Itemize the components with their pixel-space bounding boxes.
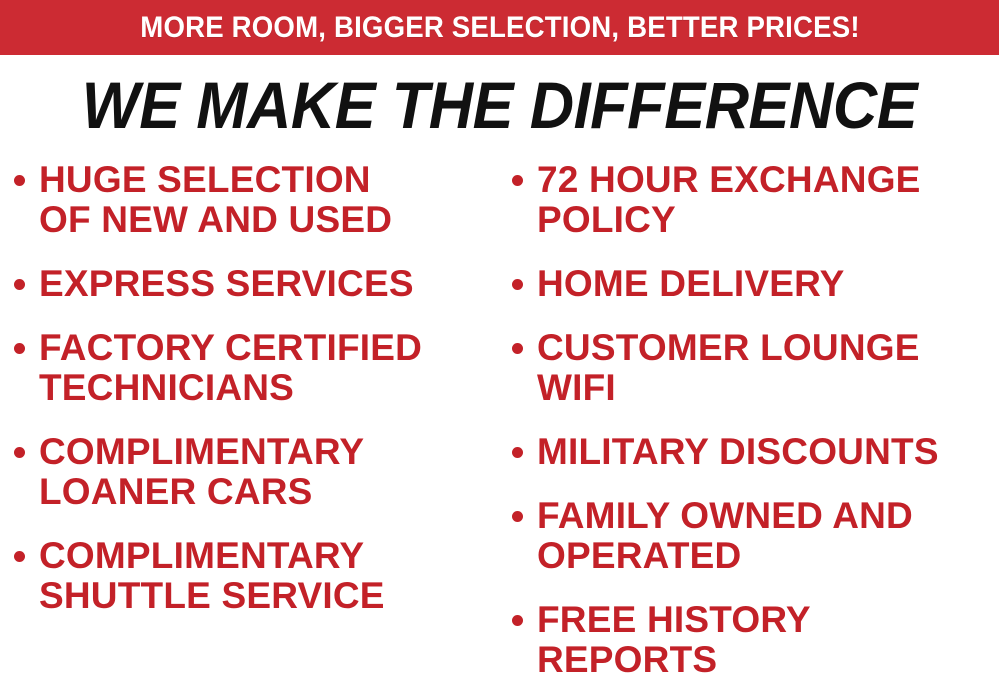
- list-item: CUSTOMER LOUNGE WIFI: [512, 328, 999, 408]
- list-item: HOME DELIVERY: [512, 264, 999, 304]
- list-item: FAMILY OWNED AND OPERATED: [512, 496, 999, 576]
- feature-lists: HUGE SELECTION OF NEW AND USED EXPRESS S…: [0, 160, 999, 692]
- list-item-label: CUSTOMER LOUNGE WIFI: [537, 328, 999, 408]
- promo-banner: MORE ROOM, BIGGER SELECTION, BETTER PRIC…: [0, 0, 999, 55]
- bullet-dot-icon: [512, 447, 523, 458]
- list-item-label: 72 HOUR EXCHANGE POLICY: [537, 160, 999, 240]
- bullet-dot-icon: [14, 447, 25, 458]
- promo-banner-text: MORE ROOM, BIGGER SELECTION, BETTER PRIC…: [140, 13, 859, 43]
- list-item-label: EXPRESS SERVICES: [39, 264, 494, 304]
- list-item-label: FACTORY CERTIFIED TECHNICIANS: [39, 328, 494, 408]
- feature-list-left: HUGE SELECTION OF NEW AND USED EXPRESS S…: [14, 160, 494, 640]
- feature-list-right: 72 HOUR EXCHANGE POLICY HOME DELIVERY CU…: [512, 160, 999, 692]
- bullet-dot-icon: [512, 343, 523, 354]
- list-item-label: MILITARY DISCOUNTS: [537, 432, 999, 472]
- list-item: 72 HOUR EXCHANGE POLICY: [512, 160, 999, 240]
- advertisement-banner: MORE ROOM, BIGGER SELECTION, BETTER PRIC…: [0, 0, 999, 692]
- bullet-dot-icon: [14, 175, 25, 186]
- list-item-label: COMPLIMENTARY LOANER CARS: [39, 432, 494, 512]
- bullet-dot-icon: [512, 615, 523, 626]
- bullet-dot-icon: [512, 279, 523, 290]
- list-item-label: FAMILY OWNED AND OPERATED: [537, 496, 999, 576]
- bullet-dot-icon: [14, 551, 25, 562]
- list-item: HUGE SELECTION OF NEW AND USED: [14, 160, 494, 240]
- list-item-label: FREE HISTORY REPORTS: [537, 600, 999, 680]
- list-item-label: HOME DELIVERY: [537, 264, 999, 304]
- page-title: WE MAKE THE DIFFERENCE: [35, 70, 964, 140]
- bullet-dot-icon: [14, 343, 25, 354]
- list-item-label: COMPLIMENTARY SHUTTLE SERVICE: [39, 536, 494, 616]
- list-item-label: HUGE SELECTION OF NEW AND USED: [39, 160, 494, 240]
- list-item: COMPLIMENTARY LOANER CARS: [14, 432, 494, 512]
- bullet-dot-icon: [512, 511, 523, 522]
- list-item: FACTORY CERTIFIED TECHNICIANS: [14, 328, 494, 408]
- list-item: COMPLIMENTARY SHUTTLE SERVICE: [14, 536, 494, 616]
- list-item: FREE HISTORY REPORTS: [512, 600, 999, 680]
- list-item: MILITARY DISCOUNTS: [512, 432, 999, 472]
- bullet-dot-icon: [512, 175, 523, 186]
- list-item: EXPRESS SERVICES: [14, 264, 494, 304]
- bullet-dot-icon: [14, 279, 25, 290]
